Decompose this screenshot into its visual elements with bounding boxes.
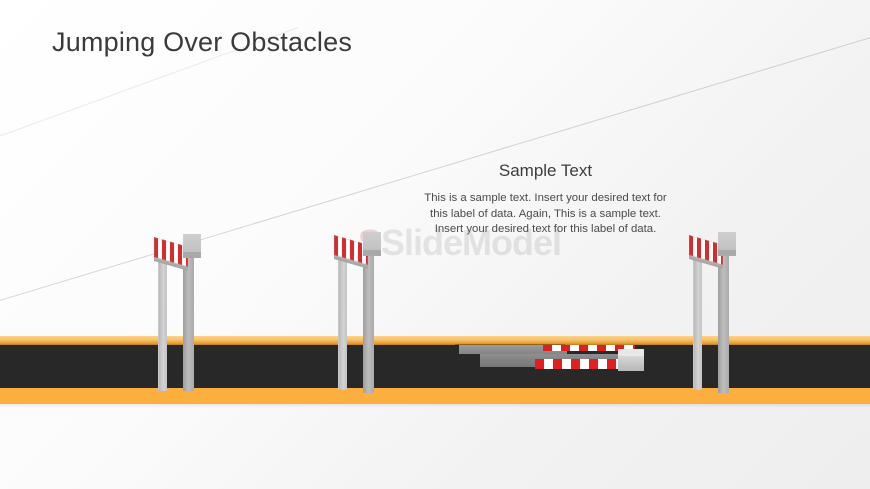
hurdle-right-top-cap <box>718 232 736 250</box>
fallen-hurdle-end-cap <box>618 356 644 371</box>
hurdle-middle[interactable] <box>330 228 390 373</box>
hurdle-middle-cap-side <box>363 250 381 256</box>
hurdle-fallen[interactable] <box>455 338 645 374</box>
hurdle-left-front-leg <box>183 250 194 391</box>
road-bottom-shadow <box>0 404 870 408</box>
road-bottom-edge-band <box>0 388 870 404</box>
watermark-text: SlideModel <box>381 222 561 263</box>
hurdle-left-cap-side <box>183 252 201 258</box>
content-heading: Sample Text <box>413 161 678 181</box>
page-title: Jumping Over Obstacles <box>52 27 352 58</box>
hurdle-middle-back-leg <box>338 252 347 390</box>
fallen-hurdle-striped-bar-lower <box>535 359 630 369</box>
hurdle-right[interactable] <box>685 228 745 373</box>
hurdle-right-front-leg <box>718 248 729 393</box>
slide-canvas: Jumping Over Obstacles Sample Text This … <box>0 0 870 489</box>
hurdle-left[interactable] <box>150 230 210 370</box>
hurdle-right-cap-side <box>718 250 736 256</box>
hurdle-middle-top-cap <box>363 232 381 250</box>
hurdle-left-top-cap <box>183 234 201 252</box>
hurdle-middle-front-leg <box>363 248 374 393</box>
fallen-hurdle-end-cap-top <box>618 349 644 356</box>
hurdle-right-back-leg <box>693 252 702 390</box>
hurdle-left-back-leg <box>158 254 167 391</box>
